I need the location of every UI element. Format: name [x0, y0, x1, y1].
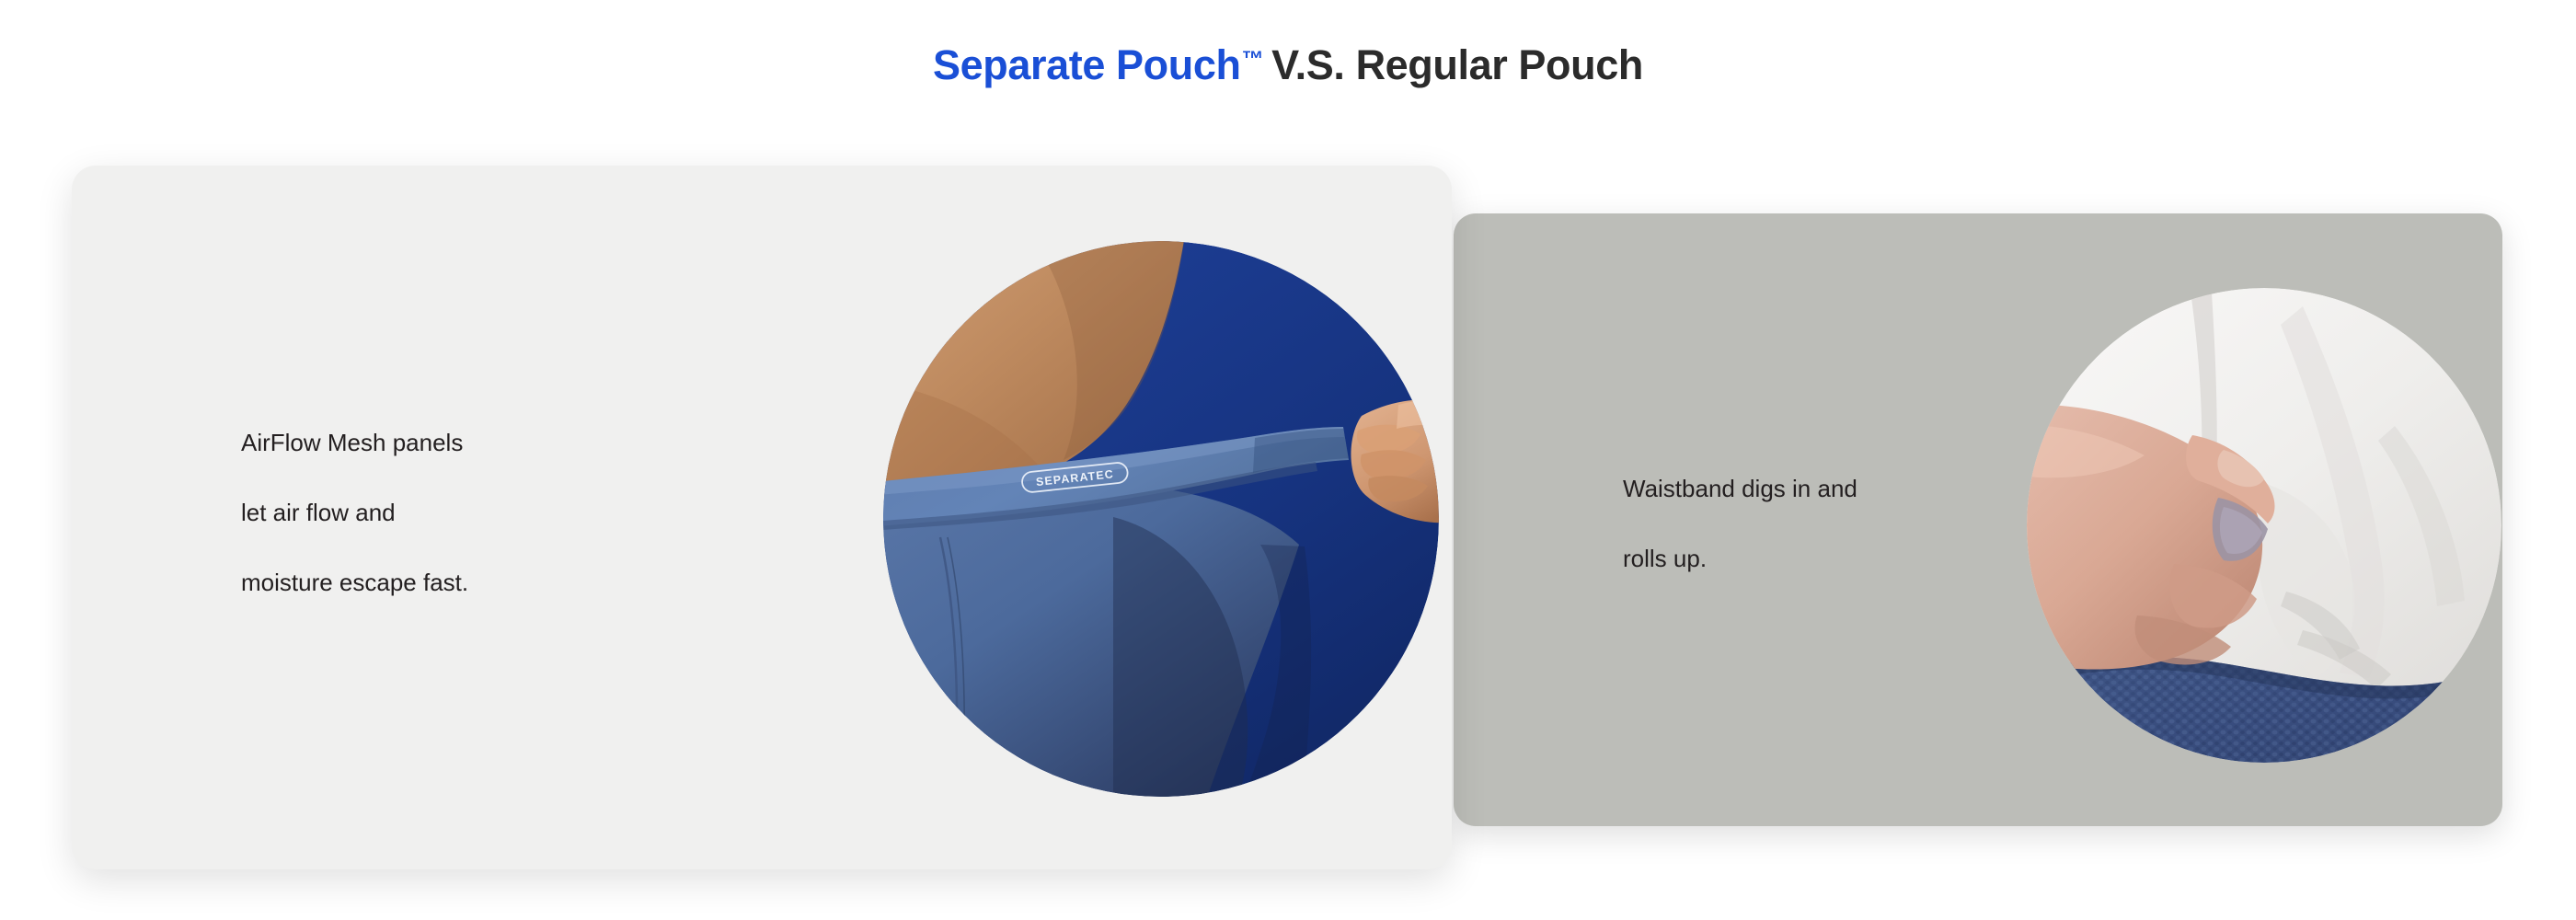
- copy-line: moisture escape fast.: [241, 570, 468, 594]
- title-brand: Separate Pouch: [933, 41, 1241, 88]
- copy-line: Waistband digs in and: [1623, 477, 1857, 500]
- title-rest: V.S. Regular Pouch: [1271, 41, 1643, 88]
- regular-pouch-copy: Waistband digs in and rolls up.: [1623, 477, 1857, 570]
- copy-line: let air flow and: [241, 500, 468, 524]
- trademark-symbol: ™: [1242, 47, 1264, 72]
- separate-pouch-copy: AirFlow Mesh panels let air flow and moi…: [241, 431, 468, 594]
- page-title: Separate Pouch™V.S. Regular Pouch: [0, 44, 2576, 86]
- copy-line: rolls up.: [1623, 546, 1857, 570]
- separate-pouch-illustration: SEPARATEC: [883, 241, 1439, 797]
- comparison-section: Separate Pouch™V.S. Regular Pouch AirFlo…: [0, 0, 2576, 920]
- regular-pouch-illustration: [2027, 288, 2501, 763]
- separate-pouch-photo: SEPARATEC: [883, 241, 1439, 797]
- copy-line: AirFlow Mesh panels: [241, 431, 468, 454]
- regular-pouch-photo: [2027, 288, 2501, 763]
